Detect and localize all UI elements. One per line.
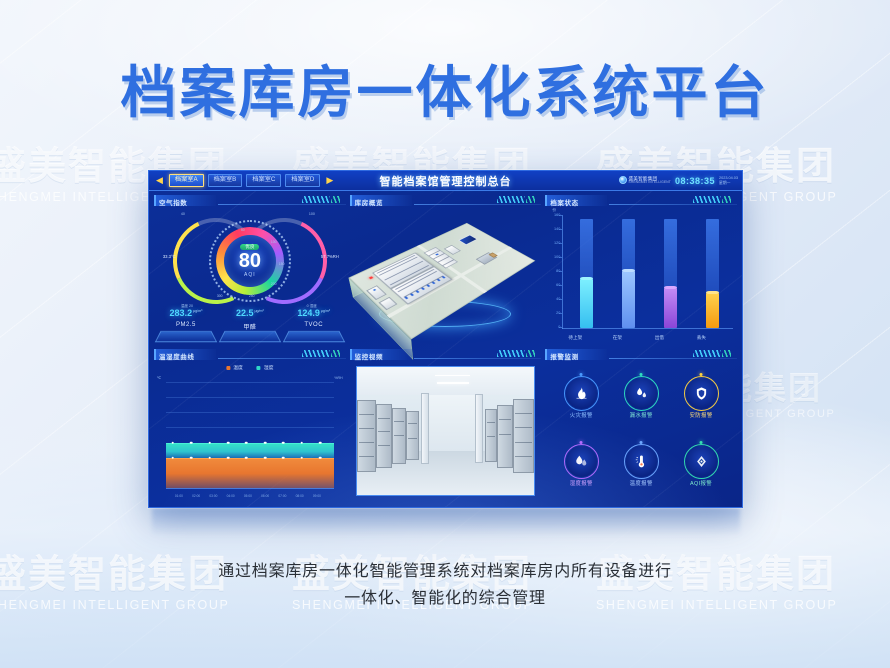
dashboard-title: 智能档案馆管理控制总台 [380, 173, 512, 189]
date-text: 2023.04.03 [719, 176, 738, 181]
deco-hatch-icon [526, 350, 535, 357]
chart-x-tick: 08:00 [296, 494, 304, 498]
chart-x-tick: 待上架 [557, 335, 593, 341]
gauge-temp-label: 33.3°C [163, 254, 176, 259]
panel-header: 库房概览 [350, 195, 542, 206]
alarm-label: 漏水报警 [630, 411, 653, 419]
dashboard-screen: ◀ 档案室A 档案室B 档案室C 档案室D ▶ 智能档案馆管理控制总台 盛美智能… [148, 170, 743, 508]
video-ceiling [357, 367, 535, 395]
video-pillar [475, 394, 483, 463]
archive-status-chart: 份 160 140 120 100 80 60 40 20 0 [545, 206, 737, 345]
brand-name-en: SHENGMEI INTELLIGENT [629, 181, 671, 185]
alarm-fire[interactable]: 火灾报警 [551, 364, 611, 432]
metric-label: 甲醛 [220, 322, 280, 331]
panel-title-air-quality: 空气指数 [159, 197, 187, 207]
deco-hatch-icon [302, 196, 330, 203]
metric-plate [283, 331, 345, 342]
chart-x-axis [166, 488, 334, 489]
alarm-label: 火灾报警 [570, 411, 593, 419]
weekday-text: 星期一 [719, 181, 738, 186]
video-cabinet [485, 409, 497, 461]
tab-room-b[interactable]: 档案室B [208, 174, 243, 186]
video-corridor [424, 395, 481, 451]
panel-header: 档案状态 [545, 195, 737, 206]
deco-hatch-icon [722, 350, 731, 357]
deco-hatch-icon [497, 196, 525, 203]
alarm-label: 安防报警 [689, 411, 712, 419]
water-icon [626, 378, 657, 409]
panel-header: 报警监测 [545, 349, 737, 360]
panel-body: 优良 80 AQI 40 100 33.3°C 57.7%RH 温度 20 0 … [154, 206, 346, 345]
chart-legend: 温度 湿度 [226, 364, 273, 371]
gauge-tick: 150 [279, 262, 285, 266]
chart-x-tick: 05:00 [244, 494, 252, 498]
video-cabinet [497, 405, 513, 468]
thermo-icon [626, 446, 657, 477]
gauge-tick: 300 [217, 294, 223, 298]
aqi-icon [686, 446, 717, 477]
aqi-value: 80 [239, 251, 261, 271]
alarm-grid: 火灾报警 漏水报警 [545, 360, 737, 502]
metric-tvoc: 124.9μg/m³ TVOC [284, 303, 344, 343]
humidity-icon [566, 446, 597, 477]
dashboard-header: ◀ 档案室A 档案室B 档案室C 档案室D ▶ 智能档案馆管理控制总台 盛美智能… [149, 171, 742, 191]
video-cabinet [392, 408, 406, 464]
screen-reflection [152, 508, 740, 536]
metric-plate [155, 331, 217, 342]
alarm-aqi[interactable]: AQI报警 [671, 432, 731, 500]
alarm-water-leak[interactable]: 漏水报警 [611, 364, 671, 432]
caption-line-1: 通过档案库房一体化智能管理系统对档案库房内所有设备进行 [0, 558, 890, 585]
tab-room-d[interactable]: 档案室D [285, 174, 320, 186]
metric-value: 22.5μg/m³ [220, 309, 280, 318]
deco-hatch-icon [331, 350, 340, 357]
gauge-left-scale-top: 40 [181, 212, 185, 216]
chart-y-unit-right: %RH [334, 376, 342, 380]
chart-bars [565, 216, 733, 328]
aqi-unit-label: AQI [244, 272, 256, 278]
warehouse-3d-model[interactable] [350, 206, 542, 345]
chart-x-tick: 09:00 [313, 494, 321, 498]
brand-logo: 盛美智能集团 SHENGMEI INTELLIGENT [619, 176, 671, 185]
panel-temp-humidity: 温湿度曲线 温度 湿度 ℃ [154, 349, 346, 502]
gauge-core: 优良 80 AQI [224, 235, 276, 287]
video-cabinet [376, 404, 392, 468]
legend-humidity[interactable]: 湿度 [257, 364, 274, 371]
panel-warehouse-overview: 库房概览 [350, 195, 542, 345]
legend-temperature[interactable]: 温度 [226, 364, 243, 371]
series-humidity-area [166, 443, 334, 458]
gauge-right-scale-top: 100 [309, 212, 315, 216]
chart-y-unit-left: ℃ [157, 376, 161, 380]
alarm-label: AQI报警 [690, 479, 712, 487]
chart-gridlines [166, 382, 334, 488]
chart-x-tick: 在架 [599, 335, 635, 341]
chart-x-tick: 01:00 [175, 494, 183, 498]
gauge-tick: 0 [209, 262, 211, 266]
series-temperature-area [166, 458, 334, 488]
alarm-temperature[interactable]: 温度报警 [611, 432, 671, 500]
chart-x-tick: 出借 [641, 335, 677, 341]
metric-label: TVOC [284, 322, 344, 328]
metric-pm25: 283.2μg/m³ PM2.5 [156, 303, 216, 343]
panel-title-warehouse: 库房概览 [355, 197, 383, 207]
panel-title-temp-humidity: 温湿度曲线 [159, 351, 195, 361]
panel-header: 温湿度曲线 [154, 349, 346, 360]
video-cabinet [406, 411, 418, 461]
gauge-tick: 50 [241, 228, 245, 232]
alarm-label: 温度报警 [630, 479, 653, 487]
metric-plate [219, 331, 281, 342]
next-arrow-icon[interactable]: ▶ [324, 176, 335, 185]
chart-x-tick: 04:00 [227, 494, 235, 498]
video-pillar [421, 393, 430, 465]
panel-body [350, 360, 542, 502]
panel-title-archive-status: 档案状态 [550, 197, 578, 207]
panel-archive-status: 档案状态 份 160 140 120 100 80 60 40 20 0 [545, 195, 737, 345]
deco-hatch-icon [693, 196, 721, 203]
chart-x-tick: 02:00 [192, 494, 200, 498]
tab-room-c[interactable]: 档案室C [246, 174, 281, 186]
deco-hatch-icon [302, 350, 330, 357]
deco-hatch-icon [331, 196, 340, 203]
chart-y-axis [562, 215, 563, 329]
legend-label: 湿度 [264, 364, 274, 371]
alarm-security[interactable]: 安防报警 [671, 364, 731, 432]
chart-x-tick: 03:00 [209, 494, 217, 498]
deco-hatch-icon [526, 196, 535, 203]
header-right: 盛美智能集团 SHENGMEI INTELLIGENT 08:38:35 202… [619, 176, 738, 186]
tab-room-a[interactable]: 档案室A [169, 174, 204, 186]
panel-body: 份 160 140 120 100 80 60 40 20 0 [545, 206, 737, 345]
gauge-tick: 100 [271, 240, 277, 244]
chart-x-tick: 丢失 [683, 335, 719, 341]
page-title: 档案库房一体化系统平台 [0, 48, 890, 129]
bar-group[interactable] [622, 216, 635, 328]
caption-line-2: 一体化、智能化的综合管理 [0, 585, 890, 612]
room-tabs: ◀ 档案室A 档案室B 档案室C 档案室D ▶ [149, 174, 335, 186]
clock: 08:38:35 [675, 176, 715, 186]
panel-title-alarms: 报警监测 [550, 351, 578, 361]
prev-arrow-icon[interactable]: ◀ [154, 176, 165, 185]
metric-value: 124.9μg/m³ [284, 309, 344, 318]
chart-x-tick: 07:00 [278, 494, 286, 498]
legend-label: 温度 [233, 364, 243, 371]
metric-value: 283.2μg/m³ [156, 309, 216, 318]
bar-group[interactable] [580, 216, 593, 328]
video-cabinet [357, 400, 377, 472]
alarm-humidity[interactable]: 湿度报警 [551, 432, 611, 500]
metric-formaldehyde: 22.5μg/m³ 甲醛 [220, 303, 280, 343]
shield-icon [686, 378, 717, 409]
gauge-tick: 250 [249, 294, 255, 298]
panel-header: 空气指数 [154, 195, 346, 206]
aqi-gauge: 优良 80 AQI 40 100 33.3°C 57.7%RH 温度 20 0 … [175, 210, 325, 308]
panel-title-video: 监控视频 [355, 351, 383, 361]
panel-body [350, 206, 542, 345]
panel-header: 监控视频 [350, 349, 542, 360]
gauge-humidity-label: 57.7%RH [321, 254, 339, 259]
panel-air-quality: 空气指数 优良 80 AQI 40 100 33.3° [154, 195, 346, 345]
video-feed[interactable] [356, 366, 536, 496]
air-metric-list: 283.2μg/m³ PM2.5 22.5μg/m³ 甲醛 124.9μg/m³… [156, 303, 344, 343]
chart-x-axis [562, 328, 733, 329]
fire-icon [566, 378, 597, 409]
panel-alarm-monitor: 报警监测 火灾报警 [545, 349, 737, 502]
panel-body: 温度 湿度 ℃ %RH [154, 360, 346, 502]
bar-group[interactable] [664, 216, 677, 328]
panel-body: 火灾报警 漏水报警 [545, 360, 737, 502]
panel-video-surveillance: 监控视频 [350, 349, 542, 502]
alarm-label: 湿度报警 [570, 479, 593, 487]
deco-hatch-icon [497, 350, 525, 357]
gauge-tick: 200 [271, 282, 277, 286]
chart-x-tick: 06:00 [261, 494, 269, 498]
video-cabinet [513, 399, 534, 473]
brand-dot-icon [619, 176, 627, 184]
metric-label: PM2.5 [156, 322, 216, 328]
page-caption: 通过档案库房一体化智能管理系统对档案库房内所有设备进行 一体化、智能化的综合管理 [0, 558, 890, 612]
date-block: 2023.04.03 星期一 [719, 176, 738, 185]
deco-hatch-icon [693, 350, 721, 357]
deco-hatch-icon [722, 196, 731, 203]
temp-humidity-chart: 温度 湿度 ℃ %RH [154, 360, 346, 502]
bar-group[interactable] [706, 216, 719, 328]
